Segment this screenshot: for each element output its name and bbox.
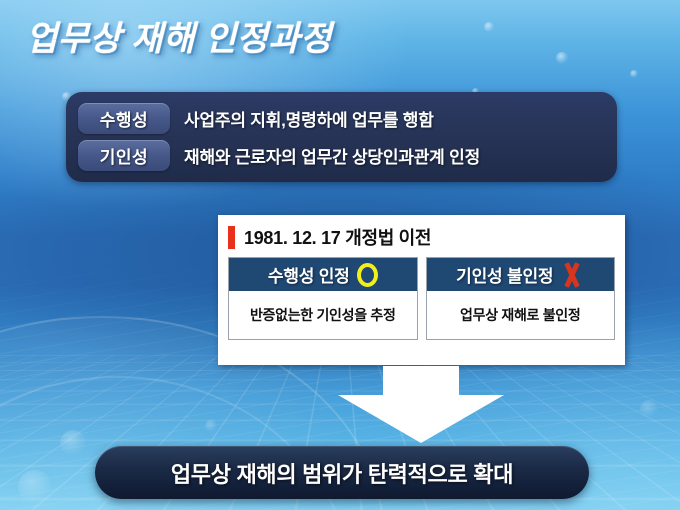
- outcome-box-header-text: 기인성 불인정: [456, 262, 553, 287]
- cross-x-mark-icon: [560, 262, 584, 288]
- outcome-box-header: 수행성 인정: [229, 258, 417, 291]
- red-tick-marker: [228, 226, 235, 249]
- bokeh-dot: [205, 420, 217, 432]
- circle-o-mark-icon: [357, 263, 378, 287]
- criteria-description: 사업주의 지휘,명령하에 업무를 행함: [184, 106, 434, 131]
- outcome-box-body-text: 반증없는한 기인성을 추정: [229, 291, 417, 339]
- conclusion-text: 업무상 재해의 범위가 탄력적으로 확대: [171, 457, 513, 489]
- slide-title: 업무상 재해 인정과정: [26, 11, 332, 60]
- outcome-box-suhaengseong: 수행성 인정 반증없는한 기인성을 추정: [228, 257, 418, 340]
- law-period-heading: 1981. 12. 17 개정법 이전: [228, 224, 431, 250]
- outcome-box-group: 수행성 인정 반증없는한 기인성을 추정 기인성 불인정 업무상 재해로 불인정: [228, 257, 615, 340]
- down-arrow-icon: [338, 366, 504, 444]
- bokeh-dot: [18, 470, 52, 504]
- bokeh-dot: [640, 400, 658, 418]
- criteria-row: 수행성 사업주의 지휘,명령하에 업무를 행함: [78, 102, 607, 135]
- bokeh-dot: [556, 52, 568, 64]
- law-period-heading-text: 1981. 12. 17 개정법 이전: [244, 224, 431, 250]
- outcome-box-body-text: 업무상 재해로 불인정: [427, 291, 615, 339]
- slide-canvas: 업무상 재해 인정과정 수행성 사업주의 지휘,명령하에 업무를 행함 기인성 …: [0, 0, 680, 510]
- outcome-box-header: 기인성 불인정: [427, 258, 615, 291]
- conclusion-banner: 업무상 재해의 범위가 탄력적으로 확대: [95, 446, 589, 499]
- outcome-box-giinseong: 기인성 불인정 업무상 재해로 불인정: [426, 257, 616, 340]
- criteria-badge-giinseong: 기인성: [78, 140, 170, 171]
- down-arrow-stem: [383, 366, 459, 396]
- law-period-panel: 1981. 12. 17 개정법 이전 수행성 인정 반증없는한 기인성을 추정…: [218, 215, 625, 365]
- outcome-box-header-text: 수행성 인정: [268, 262, 350, 287]
- criteria-row: 기인성 재해와 근로자의 업무간 상당인과관계 인정: [78, 139, 607, 172]
- criteria-description: 재해와 근로자의 업무간 상당인과관계 인정: [184, 143, 480, 168]
- bokeh-dot: [630, 70, 638, 78]
- bokeh-dot: [484, 22, 494, 32]
- down-arrow-head: [338, 395, 504, 443]
- criteria-badge-suhaengseong: 수행성: [78, 103, 170, 134]
- criteria-panel: 수행성 사업주의 지휘,명령하에 업무를 행함 기인성 재해와 근로자의 업무간…: [66, 92, 617, 182]
- bokeh-dot: [60, 430, 86, 456]
